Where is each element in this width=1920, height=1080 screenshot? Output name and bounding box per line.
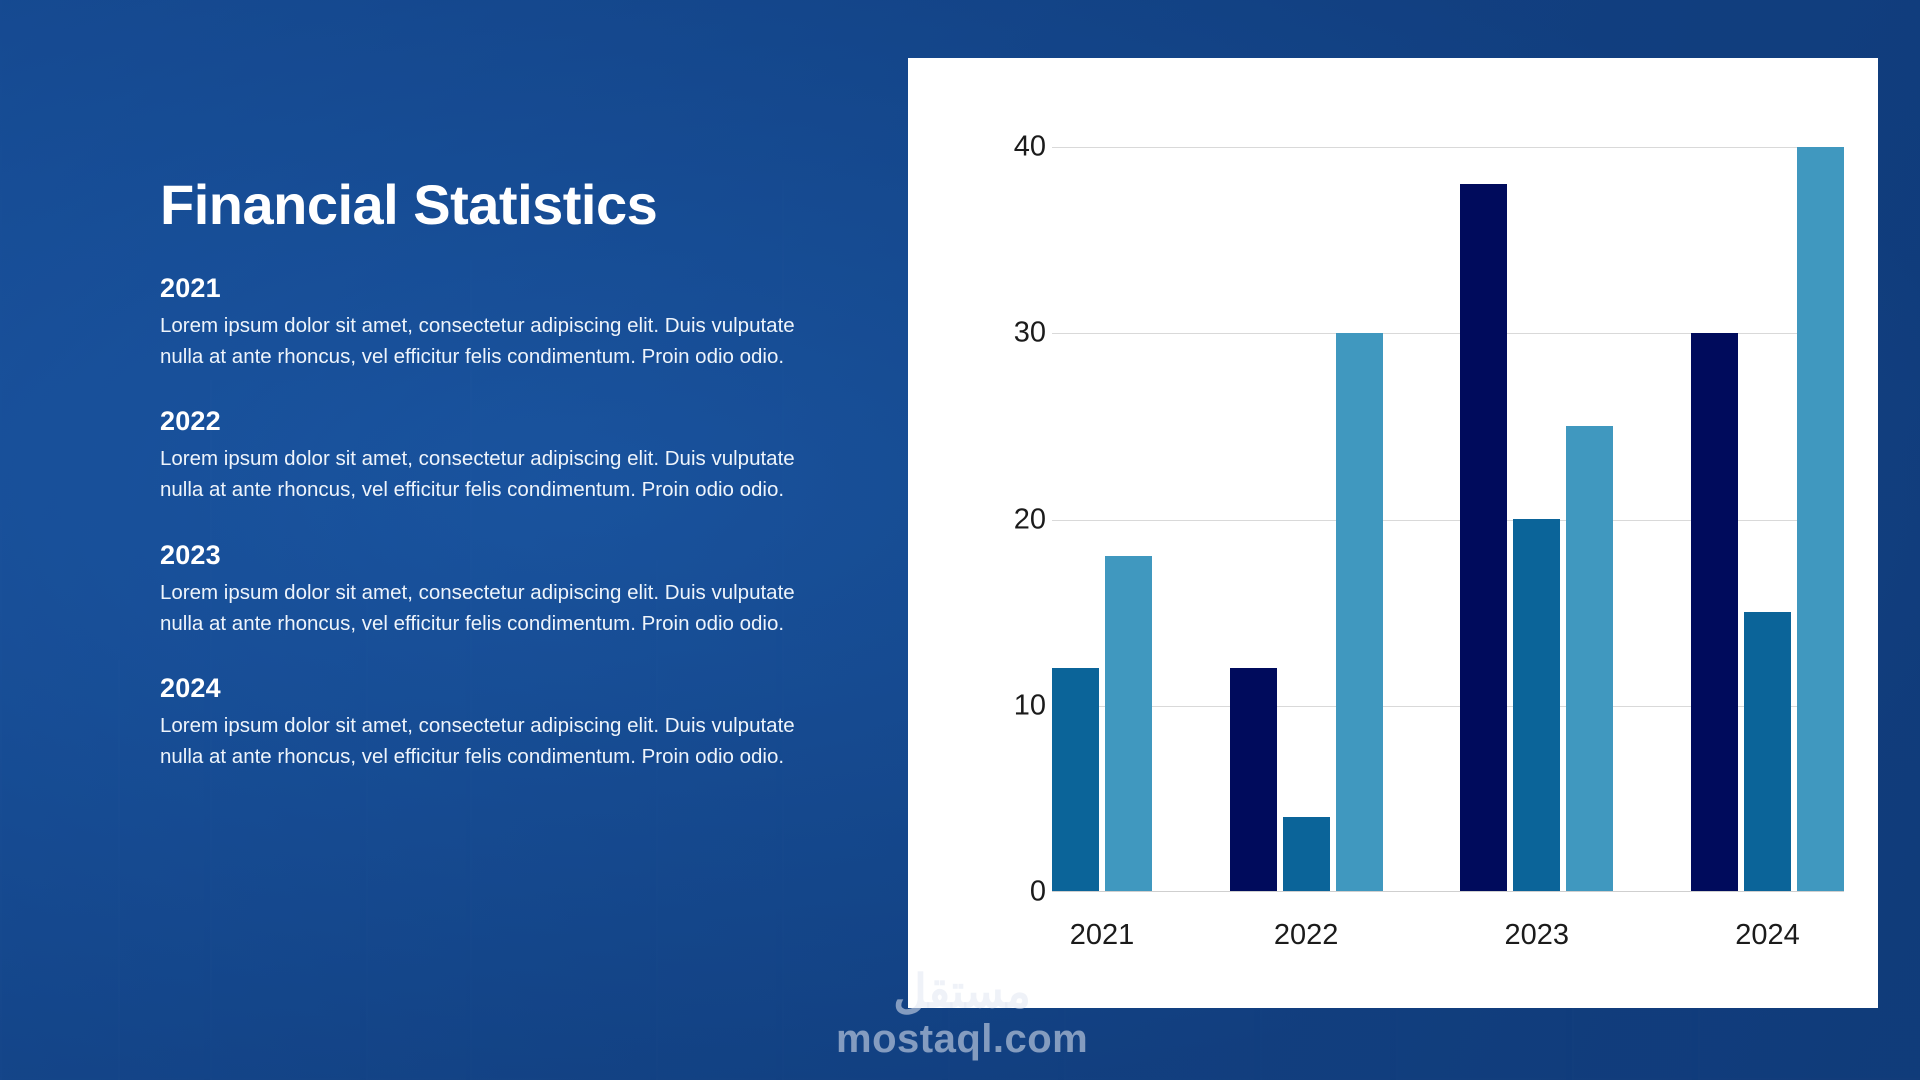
- year-description: Lorem ipsum dolor sit amet, consectetur …: [160, 311, 830, 373]
- bar-group-2022: [1230, 110, 1383, 891]
- year-heading: 2023: [160, 540, 860, 571]
- year-section-2024: 2024 Lorem ipsum dolor sit amet, consect…: [160, 673, 860, 773]
- bar[interactable]: [1283, 817, 1330, 891]
- bar-group-2023: [1460, 110, 1613, 891]
- bar[interactable]: [1052, 668, 1099, 891]
- y-tick-label: 0: [1004, 876, 1046, 909]
- bar[interactable]: [1566, 426, 1613, 891]
- bar[interactable]: [1797, 147, 1844, 891]
- year-section-2021: 2021 Lorem ipsum dolor sit amet, consect…: [160, 273, 860, 373]
- bar[interactable]: [1105, 556, 1152, 891]
- x-tick-label: 2023: [1460, 919, 1613, 952]
- y-tick-label: 20: [1004, 503, 1046, 536]
- year-heading: 2022: [160, 406, 860, 437]
- bar-groups: [1052, 110, 1844, 891]
- year-description: Lorem ipsum dolor sit amet, consectetur …: [160, 444, 830, 506]
- bar[interactable]: [1691, 333, 1738, 891]
- year-section-2022: 2022 Lorem ipsum dolor sit amet, consect…: [160, 406, 860, 506]
- x-axis-line: [1052, 891, 1844, 892]
- page-title: Financial Statistics: [160, 176, 860, 235]
- y-tick-label: 10: [1004, 689, 1046, 722]
- year-description: Lorem ipsum dolor sit amet, consectetur …: [160, 578, 830, 640]
- content-column: Financial Statistics 2021 Lorem ipsum do…: [160, 176, 860, 773]
- x-tick-label: 2024: [1691, 919, 1844, 952]
- year-description: Lorem ipsum dolor sit amet, consectetur …: [160, 711, 830, 773]
- year-heading: 2021: [160, 273, 860, 304]
- x-axis-labels: 2021202220232024: [1052, 919, 1844, 952]
- x-tick-label: 2022: [1230, 919, 1383, 952]
- y-tick-label: 30: [1004, 317, 1046, 350]
- bar-group-2021: [1052, 110, 1152, 891]
- year-section-2023: 2023 Lorem ipsum dolor sit amet, consect…: [160, 540, 860, 640]
- bar[interactable]: [1513, 519, 1560, 891]
- year-heading: 2024: [160, 673, 860, 704]
- bar-group-2024: [1691, 110, 1844, 891]
- x-tick-label: 2021: [1052, 919, 1152, 952]
- chart-card: 010203040 2021202220232024: [908, 58, 1878, 1008]
- y-tick-label: 40: [1004, 131, 1046, 164]
- bar[interactable]: [1230, 668, 1277, 891]
- bar-chart: 010203040 2021202220232024: [1004, 110, 1844, 892]
- bar[interactable]: [1460, 184, 1507, 891]
- bar[interactable]: [1744, 612, 1791, 891]
- bar[interactable]: [1336, 333, 1383, 891]
